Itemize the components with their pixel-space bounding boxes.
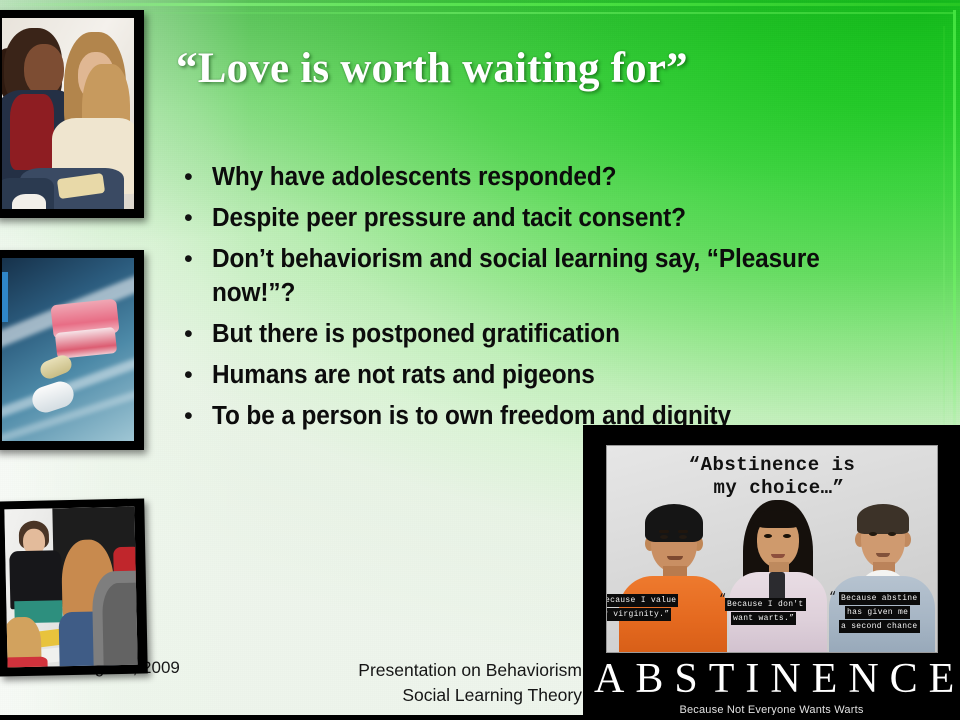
list-item: • Despite peer pressure and tacit consen… [178, 201, 918, 235]
eye [783, 534, 791, 538]
poster-person-middle [725, 500, 831, 652]
student-two-hoodie-shade [102, 582, 138, 667]
bullet-list: • Why have adolescents responded? • Desp… [178, 160, 918, 440]
eye [764, 534, 772, 538]
girl-shoe [12, 194, 46, 209]
student-three-top [4, 657, 48, 668]
photo-two-teen-girls [0, 10, 144, 218]
mouth [771, 554, 785, 558]
photo-medical-closeup [0, 250, 144, 450]
poster-inner-photo: “Abstinence is my choice…” [606, 445, 938, 653]
hair [857, 504, 909, 534]
bullet-text: But there is postponed gratification [212, 317, 886, 351]
girl-a-face [24, 44, 64, 96]
photo-classroom [0, 498, 148, 676]
bullet-text: Don’t behaviorism and social learning sa… [212, 242, 886, 310]
blue-edge-strip [2, 272, 8, 322]
frame-line-right-secondary [943, 26, 945, 456]
list-item: • Humans are not rats and pigeons [178, 358, 918, 392]
photo-content [2, 258, 134, 441]
poster-label-right-line3: a second chance [839, 620, 920, 633]
slide-bottom-border [0, 715, 960, 720]
eye [679, 535, 687, 539]
mouth [876, 553, 890, 557]
eyebrow [659, 530, 669, 533]
slide-title: “Love is worth waiting for” [176, 46, 906, 91]
poster-wordmark: ABSTINENCE [583, 657, 960, 701]
bullet-marker-icon: • [178, 242, 212, 276]
bullet-marker-icon: • [178, 160, 212, 194]
bullet-marker-icon: • [178, 358, 212, 392]
list-item: • Don’t behaviorism and social learning … [178, 242, 918, 310]
abstinence-poster-image: “Abstinence is my choice…” [583, 425, 960, 720]
frame-line-top [0, 3, 960, 6]
photo-content [4, 507, 137, 668]
eye [888, 532, 896, 536]
list-item: • But there is postponed gratification [178, 317, 918, 351]
bullet-text: Why have adolescents responded? [212, 160, 886, 194]
bullet-marker-icon: • [178, 317, 212, 351]
girl-a-shirt [10, 94, 54, 170]
list-item: • Why have adolescents responded? [178, 160, 918, 194]
frame-line-top-secondary [120, 12, 954, 14]
footer-subtitle-line2: Social Learning Theory [230, 683, 582, 708]
poster-label-left-line2: y virginity.” [606, 608, 671, 621]
hair [645, 504, 703, 542]
photo-content [2, 18, 134, 209]
footer-subtitle-line1: Presentation on Behaviorism [230, 658, 582, 683]
eye [869, 532, 877, 536]
poster-person-left [619, 504, 727, 652]
eye [660, 535, 668, 539]
bullet-marker-icon: • [178, 399, 212, 433]
tan-capsule [38, 353, 74, 382]
poster-label-left-line1: ecause I value [606, 594, 678, 607]
footer-subtitle: Presentation on Behaviorism Social Learn… [230, 658, 582, 708]
bullet-marker-icon: • [178, 201, 212, 235]
poster-label-middle-line2: want warts.” [731, 612, 796, 625]
poster-label-right-line1: Because abstine [839, 592, 920, 605]
bullet-text: Humans are not rats and pigeons [212, 358, 886, 392]
poster-quote-mark-right: “ [829, 590, 836, 604]
poster-quote-line2: my choice…” [607, 477, 937, 500]
eyebrow [678, 530, 688, 533]
presentation-slide: “Love is worth waiting for” • Why have a… [0, 0, 960, 720]
poster-label-right-line2: has given me [845, 606, 910, 619]
poster-quote-line1: “Abstinence is [689, 454, 856, 476]
bullet-text: Despite peer pressure and tacit consent? [212, 201, 886, 235]
poster-label-middle-line1: Because I don't [725, 598, 806, 611]
mouth [667, 556, 683, 560]
poster-quote: “Abstinence is my choice…” [607, 454, 937, 500]
hair-fringe [753, 510, 803, 528]
